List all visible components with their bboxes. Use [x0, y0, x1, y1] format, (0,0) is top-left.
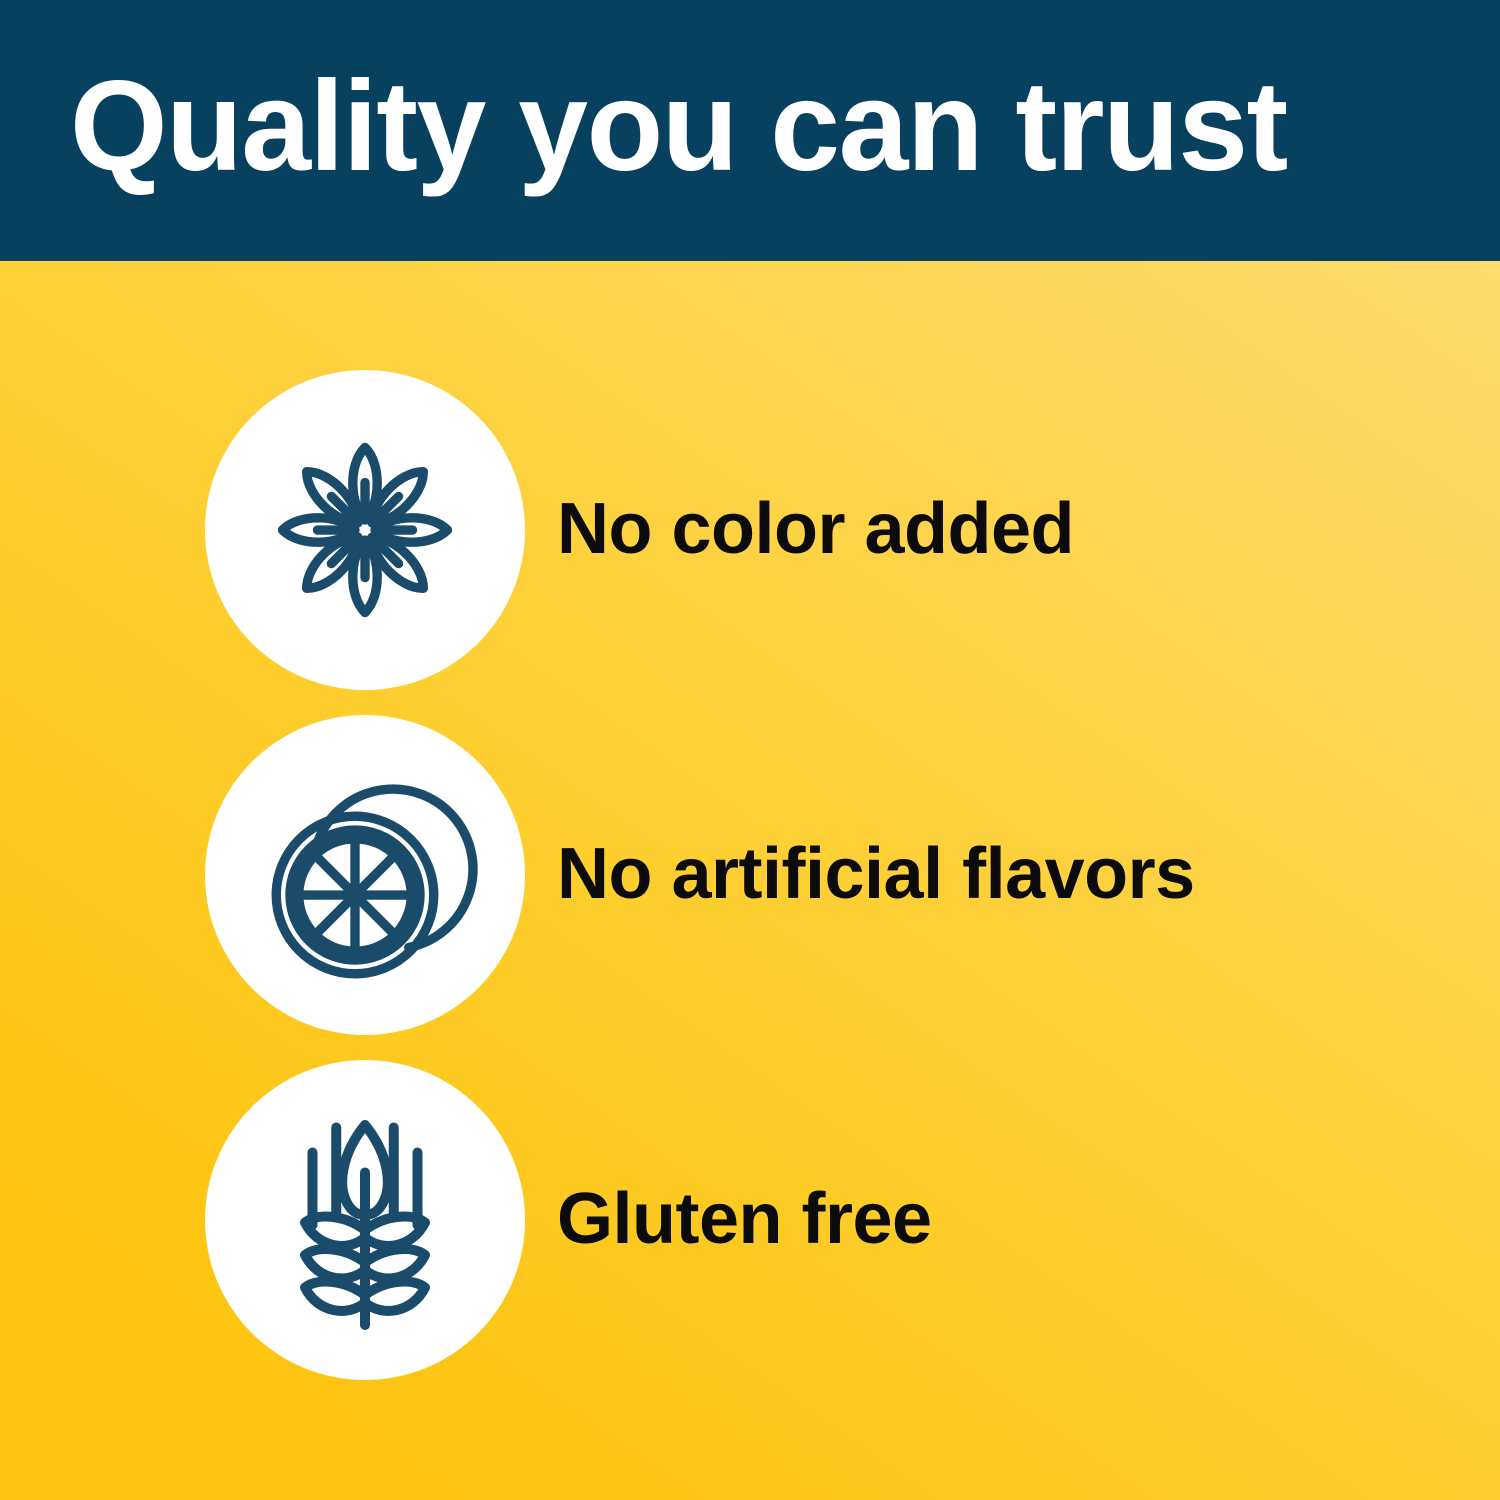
feature-label: No artificial flavors — [557, 837, 1195, 913]
feature-label: Gluten free — [557, 1182, 932, 1258]
page-title: Quality you can trust — [70, 63, 1287, 199]
feature-label: No color added — [557, 492, 1074, 568]
citrus-slices-icon — [240, 750, 490, 1000]
wheat-stalk-icon — [240, 1095, 490, 1345]
feature-item: No color added — [0, 357, 1500, 702]
quality-infographic: Quality you can trust — [0, 0, 1500, 1500]
feature-item: Gluten free — [0, 1047, 1500, 1392]
icon-badge — [205, 370, 525, 690]
feature-list: No color added — [0, 261, 1500, 1500]
feature-item: No artificial flavors — [0, 702, 1500, 1047]
icon-badge — [205, 1060, 525, 1380]
icon-badge — [205, 715, 525, 1035]
header-band: Quality you can trust — [0, 0, 1500, 261]
color-drops-radial-icon — [240, 405, 490, 655]
